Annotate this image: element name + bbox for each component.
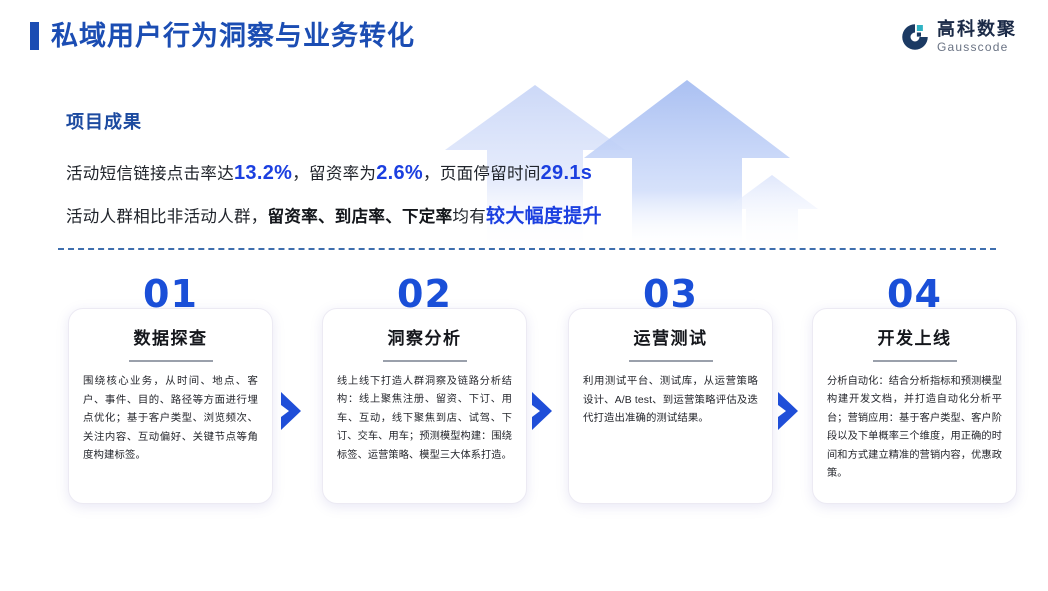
- results-line2-highlight: 较大幅度提升: [486, 206, 602, 227]
- chevron-right-icon-2: [529, 390, 555, 432]
- results-block: 项目成果 活动短信链接点击率达13.2%，留资率为2.6%，页面停留时间29.1…: [66, 108, 766, 234]
- step-title: 数据探查: [83, 327, 258, 351]
- step-title: 开发上线: [827, 327, 1002, 351]
- dashed-divider: [58, 248, 996, 250]
- step-number: 02: [322, 272, 527, 316]
- step-number: 04: [812, 272, 1017, 316]
- results-line-2: 活动人群相比非活动人群，留资率、到店率、下定率均有较大幅度提升: [66, 200, 766, 234]
- title-accent-bar: [30, 22, 39, 50]
- results-line1-text3: ，页面停留时间: [423, 165, 541, 183]
- step-divider: [873, 360, 957, 362]
- slide-header: 私域用户行为洞察与业务转化 高科数聚 Gausscode: [0, 0, 1048, 78]
- step-divider: [383, 360, 467, 362]
- gausscode-ring-icon: [900, 22, 930, 52]
- step-title: 洞察分析: [337, 327, 512, 351]
- step-divider: [129, 360, 213, 362]
- step-card-01[interactable]: 01 数据探查 围绕核心业务，从时间、地点、客户、事件、目的、路径等方面进行埋点…: [68, 272, 273, 504]
- step-description: 线上线下打造人群洞察及链路分析结构：线上聚焦注册、留资、下订、用车、互动，线下聚…: [337, 373, 512, 465]
- step-card-03[interactable]: 03 运营测试 利用测试平台、测试库，从运营策略设计、A/B test、到运营策…: [568, 272, 773, 504]
- step-number: 01: [68, 272, 273, 316]
- logo-text: 高科数聚 Gausscode: [937, 20, 1017, 53]
- logo-name-en: Gausscode: [937, 41, 1017, 53]
- step-card-body[interactable]: 运营测试 利用测试平台、测试库，从运营策略设计、A/B test、到运营策略评估…: [568, 308, 773, 504]
- results-line1-text1: 活动短信链接点击率达: [66, 165, 234, 183]
- brand-logo: 高科数聚 Gausscode: [900, 20, 1017, 53]
- step-card-04[interactable]: 04 开发上线 分析自动化：结合分析指标和预测模型构建开发文档，并打造自动化分析…: [812, 272, 1017, 504]
- metric-click-rate: 13.2%: [234, 162, 292, 184]
- metric-lead-rate: 2.6%: [376, 162, 423, 184]
- results-line2-text2: 均有: [452, 208, 486, 226]
- process-steps: 01 数据探查 围绕核心业务，从时间、地点、客户、事件、目的、路径等方面进行埋点…: [0, 272, 1048, 522]
- step-card-body[interactable]: 洞察分析 线上线下打造人群洞察及链路分析结构：线上聚焦注册、留资、下订、用车、互…: [322, 308, 527, 504]
- step-description: 利用测试平台、测试库，从运营策略设计、A/B test、到运营策略评估及迭代打造…: [583, 373, 758, 429]
- page-title: 私域用户行为洞察与业务转化: [51, 17, 415, 55]
- results-line1-text2: ，留资率为: [292, 165, 376, 183]
- chevron-right-icon-3: [775, 390, 801, 432]
- step-description: 分析自动化：结合分析指标和预测模型构建开发文档，并打造自动化分析平台；营销应用：…: [827, 373, 1002, 483]
- chevron-right-icon-1: [278, 390, 304, 432]
- step-card-02[interactable]: 02 洞察分析 线上线下打造人群洞察及链路分析结构：线上聚焦注册、留资、下订、用…: [322, 272, 527, 504]
- logo-name-cn: 高科数聚: [937, 20, 1017, 38]
- results-line2-bold: 留资率、到店率、下定率: [268, 208, 453, 226]
- step-description: 围绕核心业务，从时间、地点、客户、事件、目的、路径等方面进行埋点优化；基于客户类…: [83, 373, 258, 466]
- results-heading: 项目成果: [66, 108, 766, 134]
- results-line-1: 活动短信链接点击率达13.2%，留资率为2.6%，页面停留时间29.1s: [66, 156, 766, 191]
- results-line2-text1: 活动人群相比非活动人群，: [66, 208, 268, 226]
- step-number: 03: [568, 272, 773, 316]
- slide-root: 私域用户行为洞察与业务转化 高科数聚 Gausscode 项目成果 活动短信链接…: [0, 0, 1048, 591]
- step-divider: [629, 360, 713, 362]
- metric-dwell-time: 29.1s: [541, 162, 593, 184]
- step-title: 运营测试: [583, 327, 758, 351]
- step-card-body[interactable]: 开发上线 分析自动化：结合分析指标和预测模型构建开发文档，并打造自动化分析平台；…: [812, 308, 1017, 504]
- step-card-body[interactable]: 数据探查 围绕核心业务，从时间、地点、客户、事件、目的、路径等方面进行埋点优化；…: [68, 308, 273, 504]
